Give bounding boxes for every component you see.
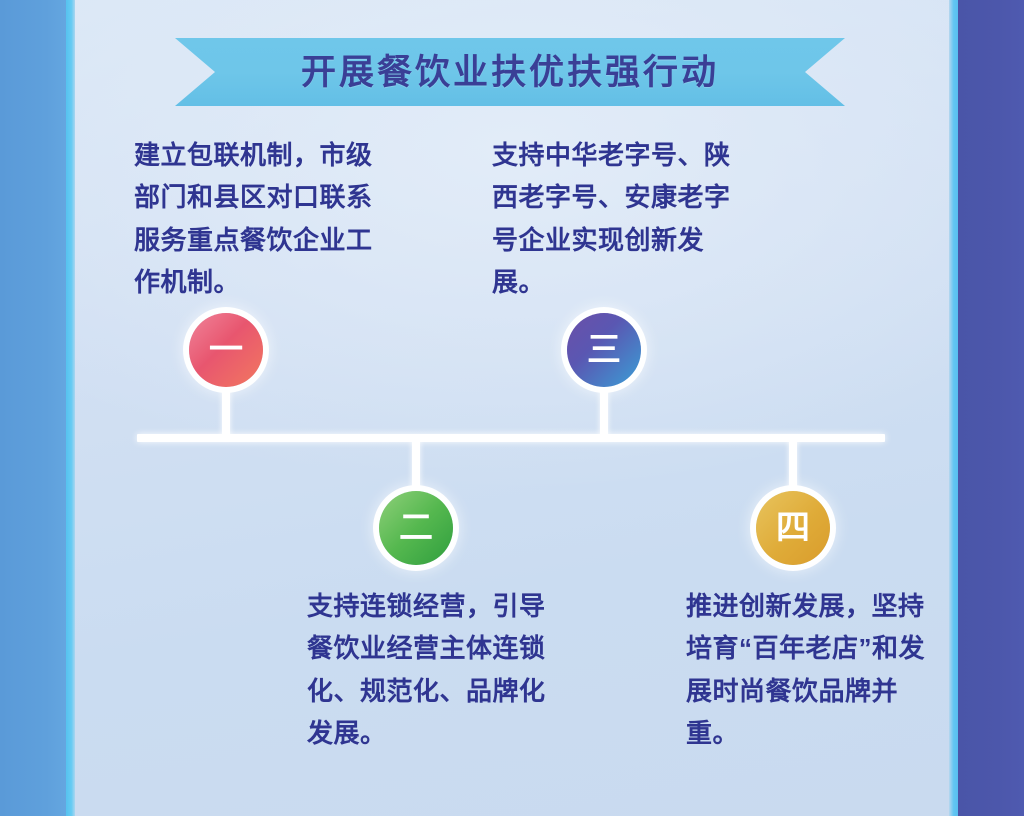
right-color-band xyxy=(958,0,1024,816)
connector-stem-2 xyxy=(412,438,420,496)
timeline-axis xyxy=(137,434,885,442)
timeline-marker-3: 三 xyxy=(567,313,641,387)
timeline-text-1: 建立包联机制，市级部门和县区对口联系服务重点餐饮企业工作机制。 xyxy=(134,134,386,304)
timeline-text-4: 推进创新发展，坚持培育“百年老店”和发展时尚餐饮品牌并重。 xyxy=(686,585,932,755)
left-accent-stripe xyxy=(66,0,75,816)
connector-stem-4 xyxy=(789,438,797,496)
page-title: 开展餐饮业扶优扶强行动 xyxy=(301,55,719,90)
timeline-text-2: 支持连锁经营，引导餐饮业经营主体连锁化、规范化、品牌化发展。 xyxy=(307,585,553,755)
infographic-poster: 开展餐饮业扶优扶强行动 一 二 三 四 建立包联机制，市级部门和县区对口联系服务… xyxy=(0,0,1024,816)
timeline-text-3: 支持中华老字号、陕西老字号、安康老字号企业实现创新发展。 xyxy=(492,134,744,304)
timeline-marker-4: 四 xyxy=(756,491,830,565)
title-ribbon-banner: 开展餐饮业扶优扶强行动 xyxy=(175,38,845,106)
left-color-band xyxy=(0,0,66,816)
timeline-marker-2: 二 xyxy=(379,491,453,565)
timeline-marker-1: 一 xyxy=(189,313,263,387)
